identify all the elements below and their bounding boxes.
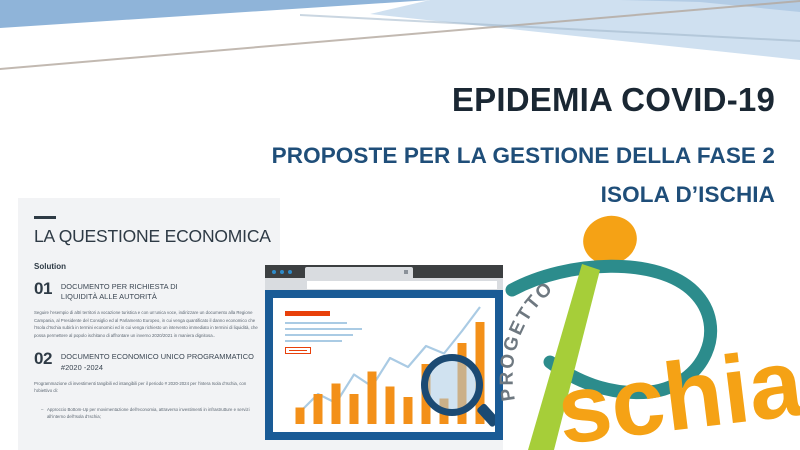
browser-titlebar	[265, 265, 503, 278]
logo-wordmark: schia	[552, 329, 800, 450]
section-label: Solution	[34, 262, 264, 271]
chart-bar	[314, 394, 323, 424]
page-subtitle: PROPOSTE PER LA GESTIONE DELLA FASE 2	[150, 144, 775, 169]
item-heading-line: #2020 -2024	[61, 363, 254, 373]
decor-hairline-1	[0, 0, 800, 70]
browser-viewport	[265, 290, 503, 440]
decor-band-right	[370, 0, 800, 60]
list-item: 01 DOCUMENTO PER RICHIESTA DI LIQUIDITÀ …	[34, 280, 264, 302]
browser-tab[interactable]	[305, 267, 413, 279]
decor-hairline-2	[300, 14, 800, 42]
document-card: LA QUESTIONE ECONOMICA Solution 01 DOCUM…	[18, 198, 280, 450]
list-item-bullet: Approccio Bottom-Up per movimentazione d…	[42, 406, 264, 421]
page-title: EPIDEMIA COVID-19	[150, 82, 775, 118]
progetto-ischia-logo: PROGETTO schia	[498, 212, 800, 450]
slide-canvas: EPIDEMIA COVID-19 PROPOSTE PER LA GESTIO…	[0, 0, 800, 450]
browser-footer	[265, 440, 503, 450]
window-dot-icon	[280, 270, 284, 274]
item-heading: DOCUMENTO ECONOMICO UNICO PROGRAMMATICO …	[61, 350, 254, 372]
item-heading: DOCUMENTO PER RICHIESTA DI LIQUIDITÀ ALL…	[61, 280, 178, 302]
chart-bar	[386, 387, 395, 425]
decor-band-right-2	[620, 0, 800, 12]
browser-mockup	[265, 265, 503, 450]
window-dot-icon	[272, 270, 276, 274]
chart-bar	[404, 397, 413, 424]
item-number: 02	[34, 350, 52, 367]
browser-toolbar	[265, 278, 503, 290]
item-heading-line: DOCUMENTO PER RICHIESTA DI	[61, 282, 178, 292]
document-title: LA QUESTIONE ECONOMICA	[34, 226, 264, 247]
chart-bar	[368, 372, 377, 425]
magnifier-icon	[421, 354, 483, 416]
chart-bar	[296, 408, 305, 425]
list-item: 02 DOCUMENTO ECONOMICO UNICO PROGRAMMATI…	[34, 350, 264, 372]
item-bullet-list: Approccio Bottom-Up per movimentazione d…	[34, 406, 264, 421]
title-rule	[34, 216, 56, 219]
item-heading-line: DOCUMENTO ECONOMICO UNICO PROGRAMMATICO	[61, 352, 254, 362]
item-body: Seguire l’esempio di altri territori a v…	[34, 309, 264, 339]
title-block: EPIDEMIA COVID-19 PROPOSTE PER LA GESTIO…	[150, 82, 775, 208]
chart-bar	[332, 384, 341, 425]
chart-canvas	[273, 298, 495, 432]
decor-band-left	[0, 0, 430, 28]
close-icon[interactable]	[404, 270, 408, 274]
item-heading-line: LIQUIDITÀ ALLE AUTORITÀ	[61, 292, 178, 302]
chart-bar	[350, 394, 359, 424]
item-number: 01	[34, 280, 52, 297]
window-dot-icon	[288, 270, 292, 274]
address-bar-input[interactable]	[307, 281, 497, 289]
item-body: Programmazione di investimenti tangibili…	[34, 380, 264, 395]
